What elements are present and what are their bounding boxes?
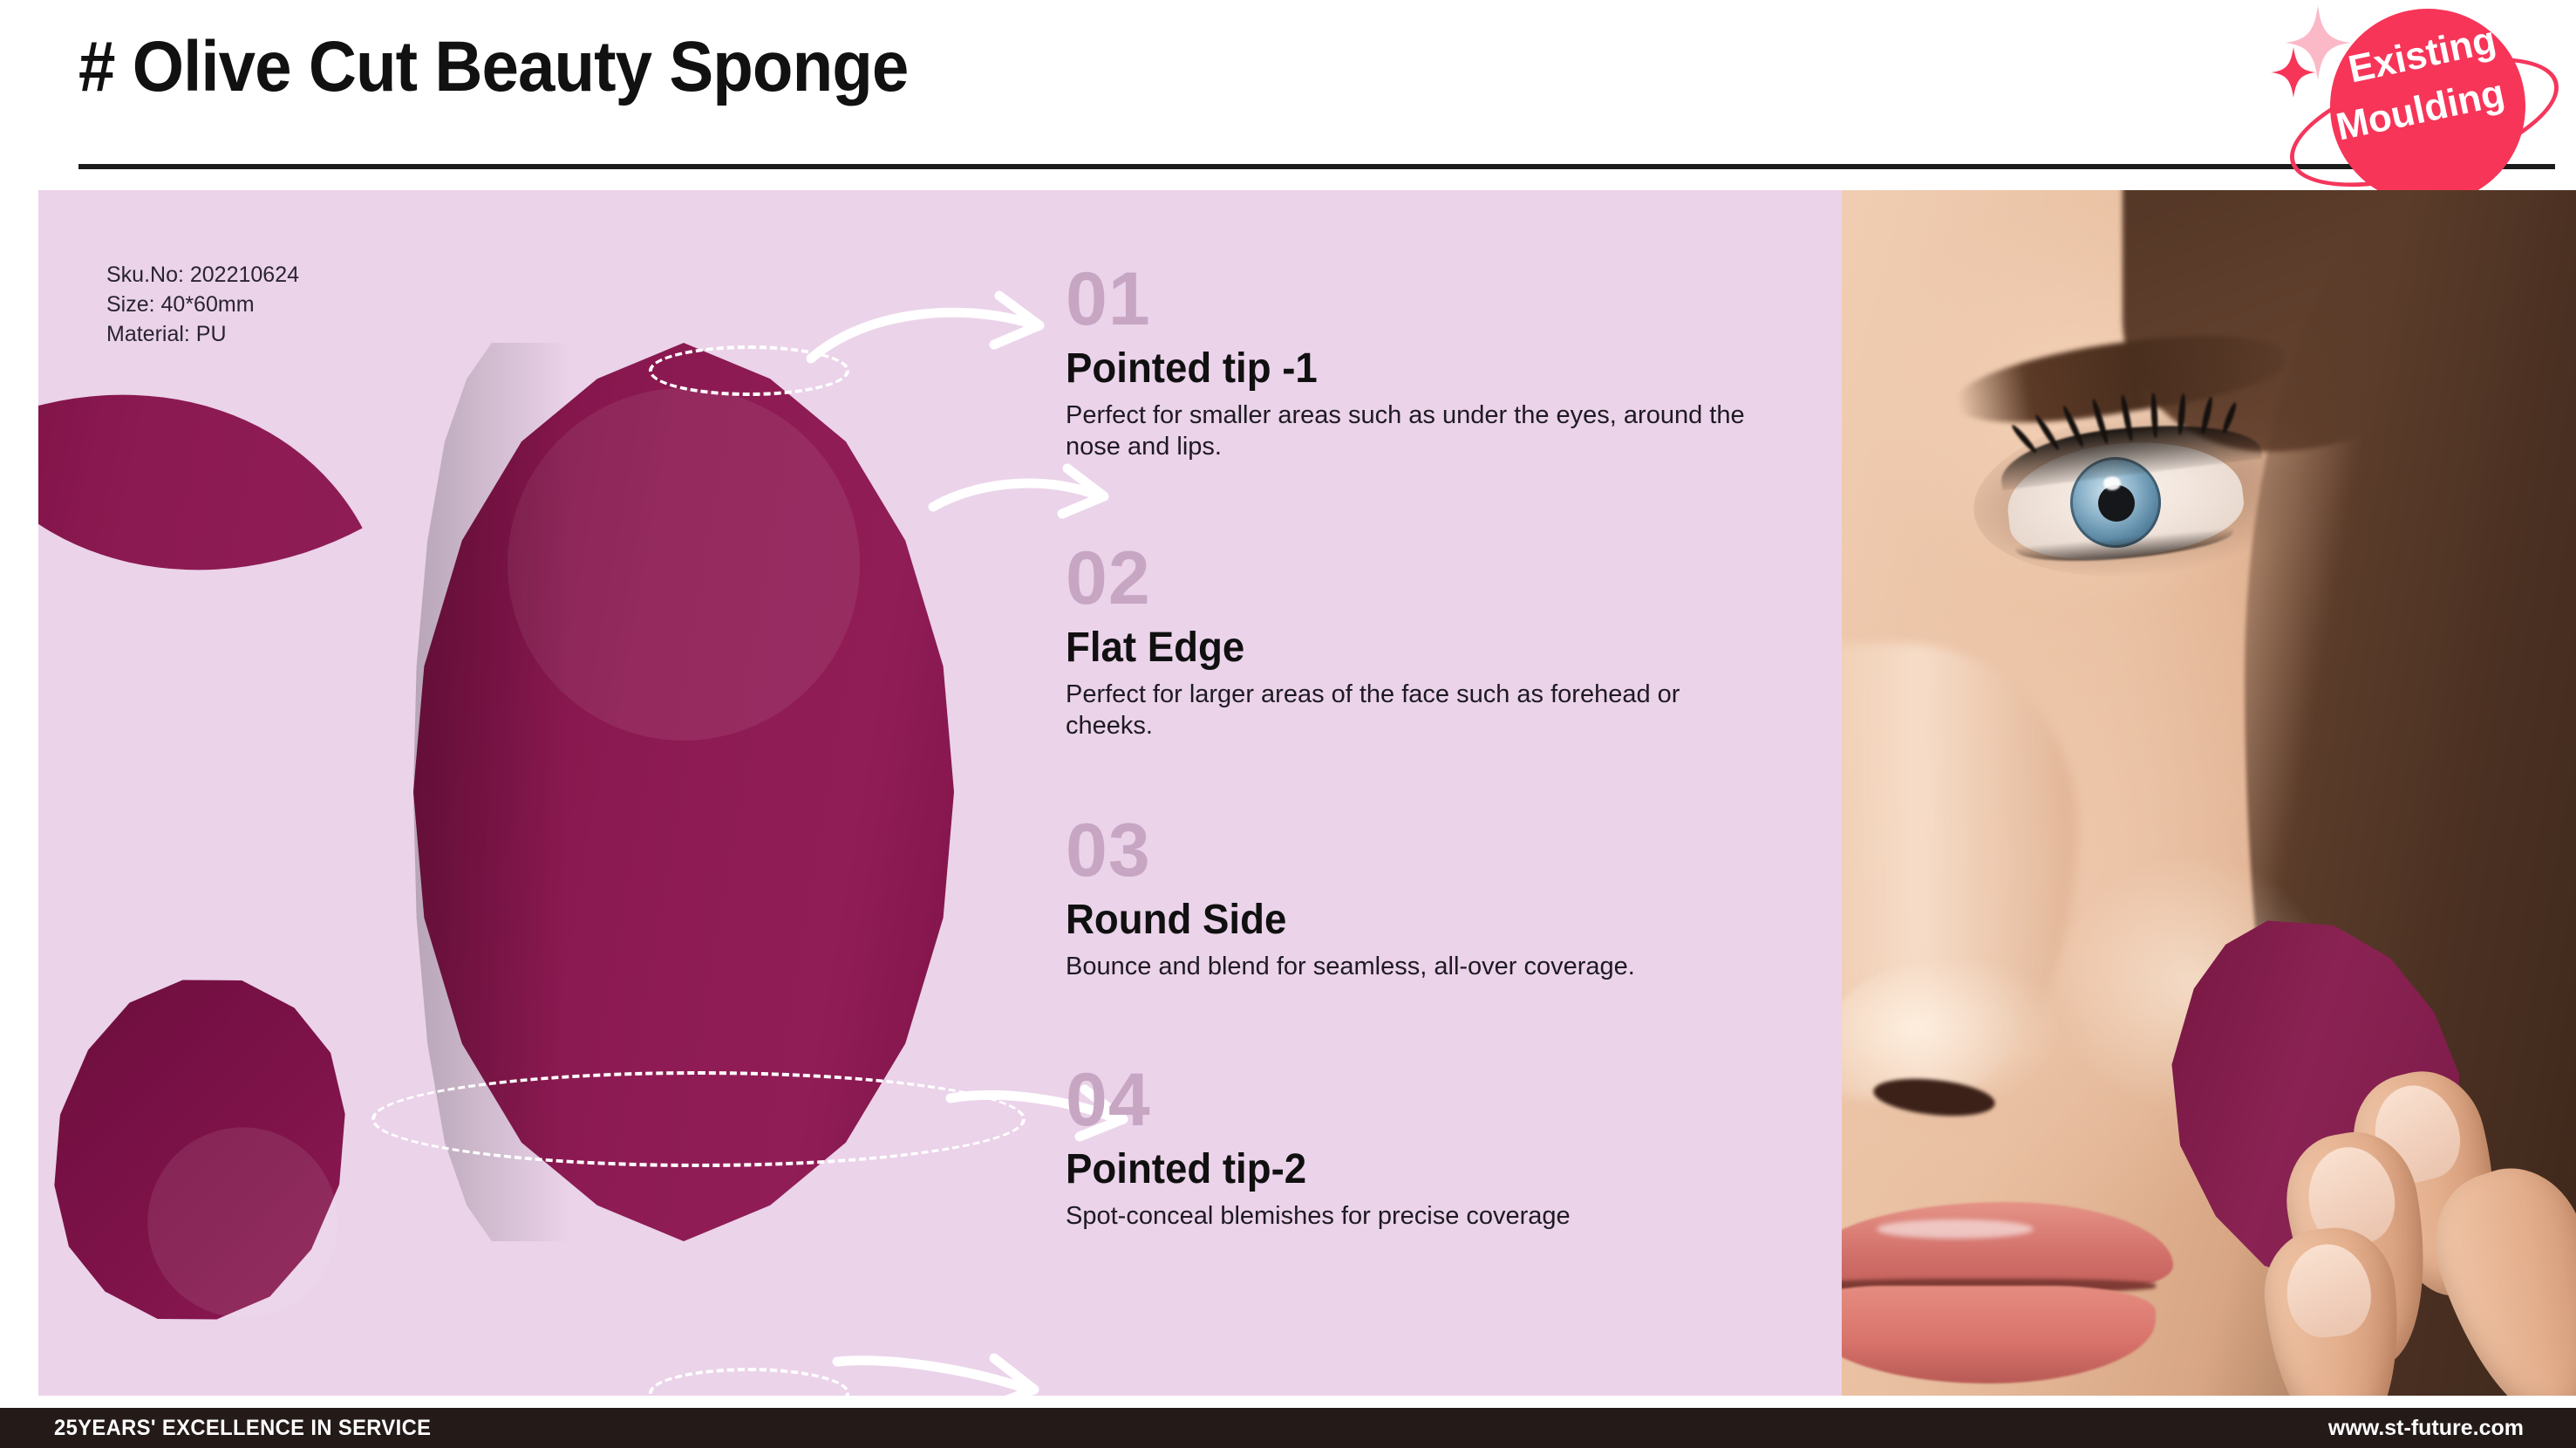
page-header: # Olive Cut Beauty Sponge Existing Mould… (0, 0, 2576, 190)
footer-website-link[interactable]: www.st-future.com (2328, 1416, 2524, 1441)
callout-arrow-02-icon (928, 456, 1128, 543)
fingernail (2282, 1240, 2375, 1341)
feature-number: 04 (1066, 1062, 1781, 1137)
feature-title: Pointed tip -1 (1066, 344, 1745, 394)
sponge-body-shape (38, 290, 363, 676)
feature-number: 01 (1066, 262, 1781, 337)
footer-tagline: 25YEARS' EXCELLENCE IN SERVICE (54, 1416, 431, 1441)
eye-pupil (2098, 485, 2135, 522)
feature-item-01: 01 Pointed tip -1 Perfect for smaller ar… (1066, 262, 1781, 462)
feature-number: 03 (1066, 813, 1781, 888)
callout-arrow-01-icon (806, 290, 1067, 386)
lip-gloss-highlight (1877, 1219, 2034, 1239)
feature-description: Bounce and blend for seamless, all-over … (1066, 951, 1755, 982)
feature-title: Pointed tip-2 (1066, 1144, 1745, 1195)
feature-number: 02 (1066, 541, 1781, 616)
feature-item-03: 03 Round Side Bounce and blend for seaml… (1066, 813, 1781, 982)
dashed-ellipse-middle (371, 1071, 1026, 1167)
sparkle-small-icon (2271, 47, 2316, 98)
badge-circle: Existing Moulding (2330, 9, 2525, 204)
feature-item-04: 04 Pointed tip-2 Spot-conceal blemishes … (1066, 1062, 1781, 1232)
feature-title: Flat Edge (1066, 623, 1745, 673)
feature-description: Perfect for smaller areas such as under … (1066, 400, 1755, 462)
portrait-composition (1842, 190, 2576, 1396)
model-photo (1842, 190, 2576, 1396)
page-title: # Olive Cut Beauty Sponge (78, 26, 908, 108)
callout-arrow-04-icon (832, 1337, 1059, 1396)
feature-item-02: 02 Flat Edge Perfect for larger areas of… (1066, 541, 1781, 741)
sponge-bottom-left (38, 946, 381, 1354)
existing-moulding-badge[interactable]: Existing Moulding (2278, 0, 2566, 211)
feature-title: Round Side (1066, 895, 1745, 946)
dashed-ellipse-bottom (649, 1368, 849, 1396)
feature-description: Perfect for larger areas of the face suc… (1066, 679, 1755, 741)
sponge-top-left (38, 290, 363, 676)
title-underline-divider (78, 164, 2555, 169)
page-footer: 25YEARS' EXCELLENCE IN SERVICE www.st-fu… (0, 1408, 2576, 1448)
spec-sku: Sku.No: 202210624 (106, 260, 299, 290)
eye-catchlight (2103, 476, 2121, 490)
feature-description: Spot-conceal blemishes for precise cover… (1066, 1200, 1755, 1232)
